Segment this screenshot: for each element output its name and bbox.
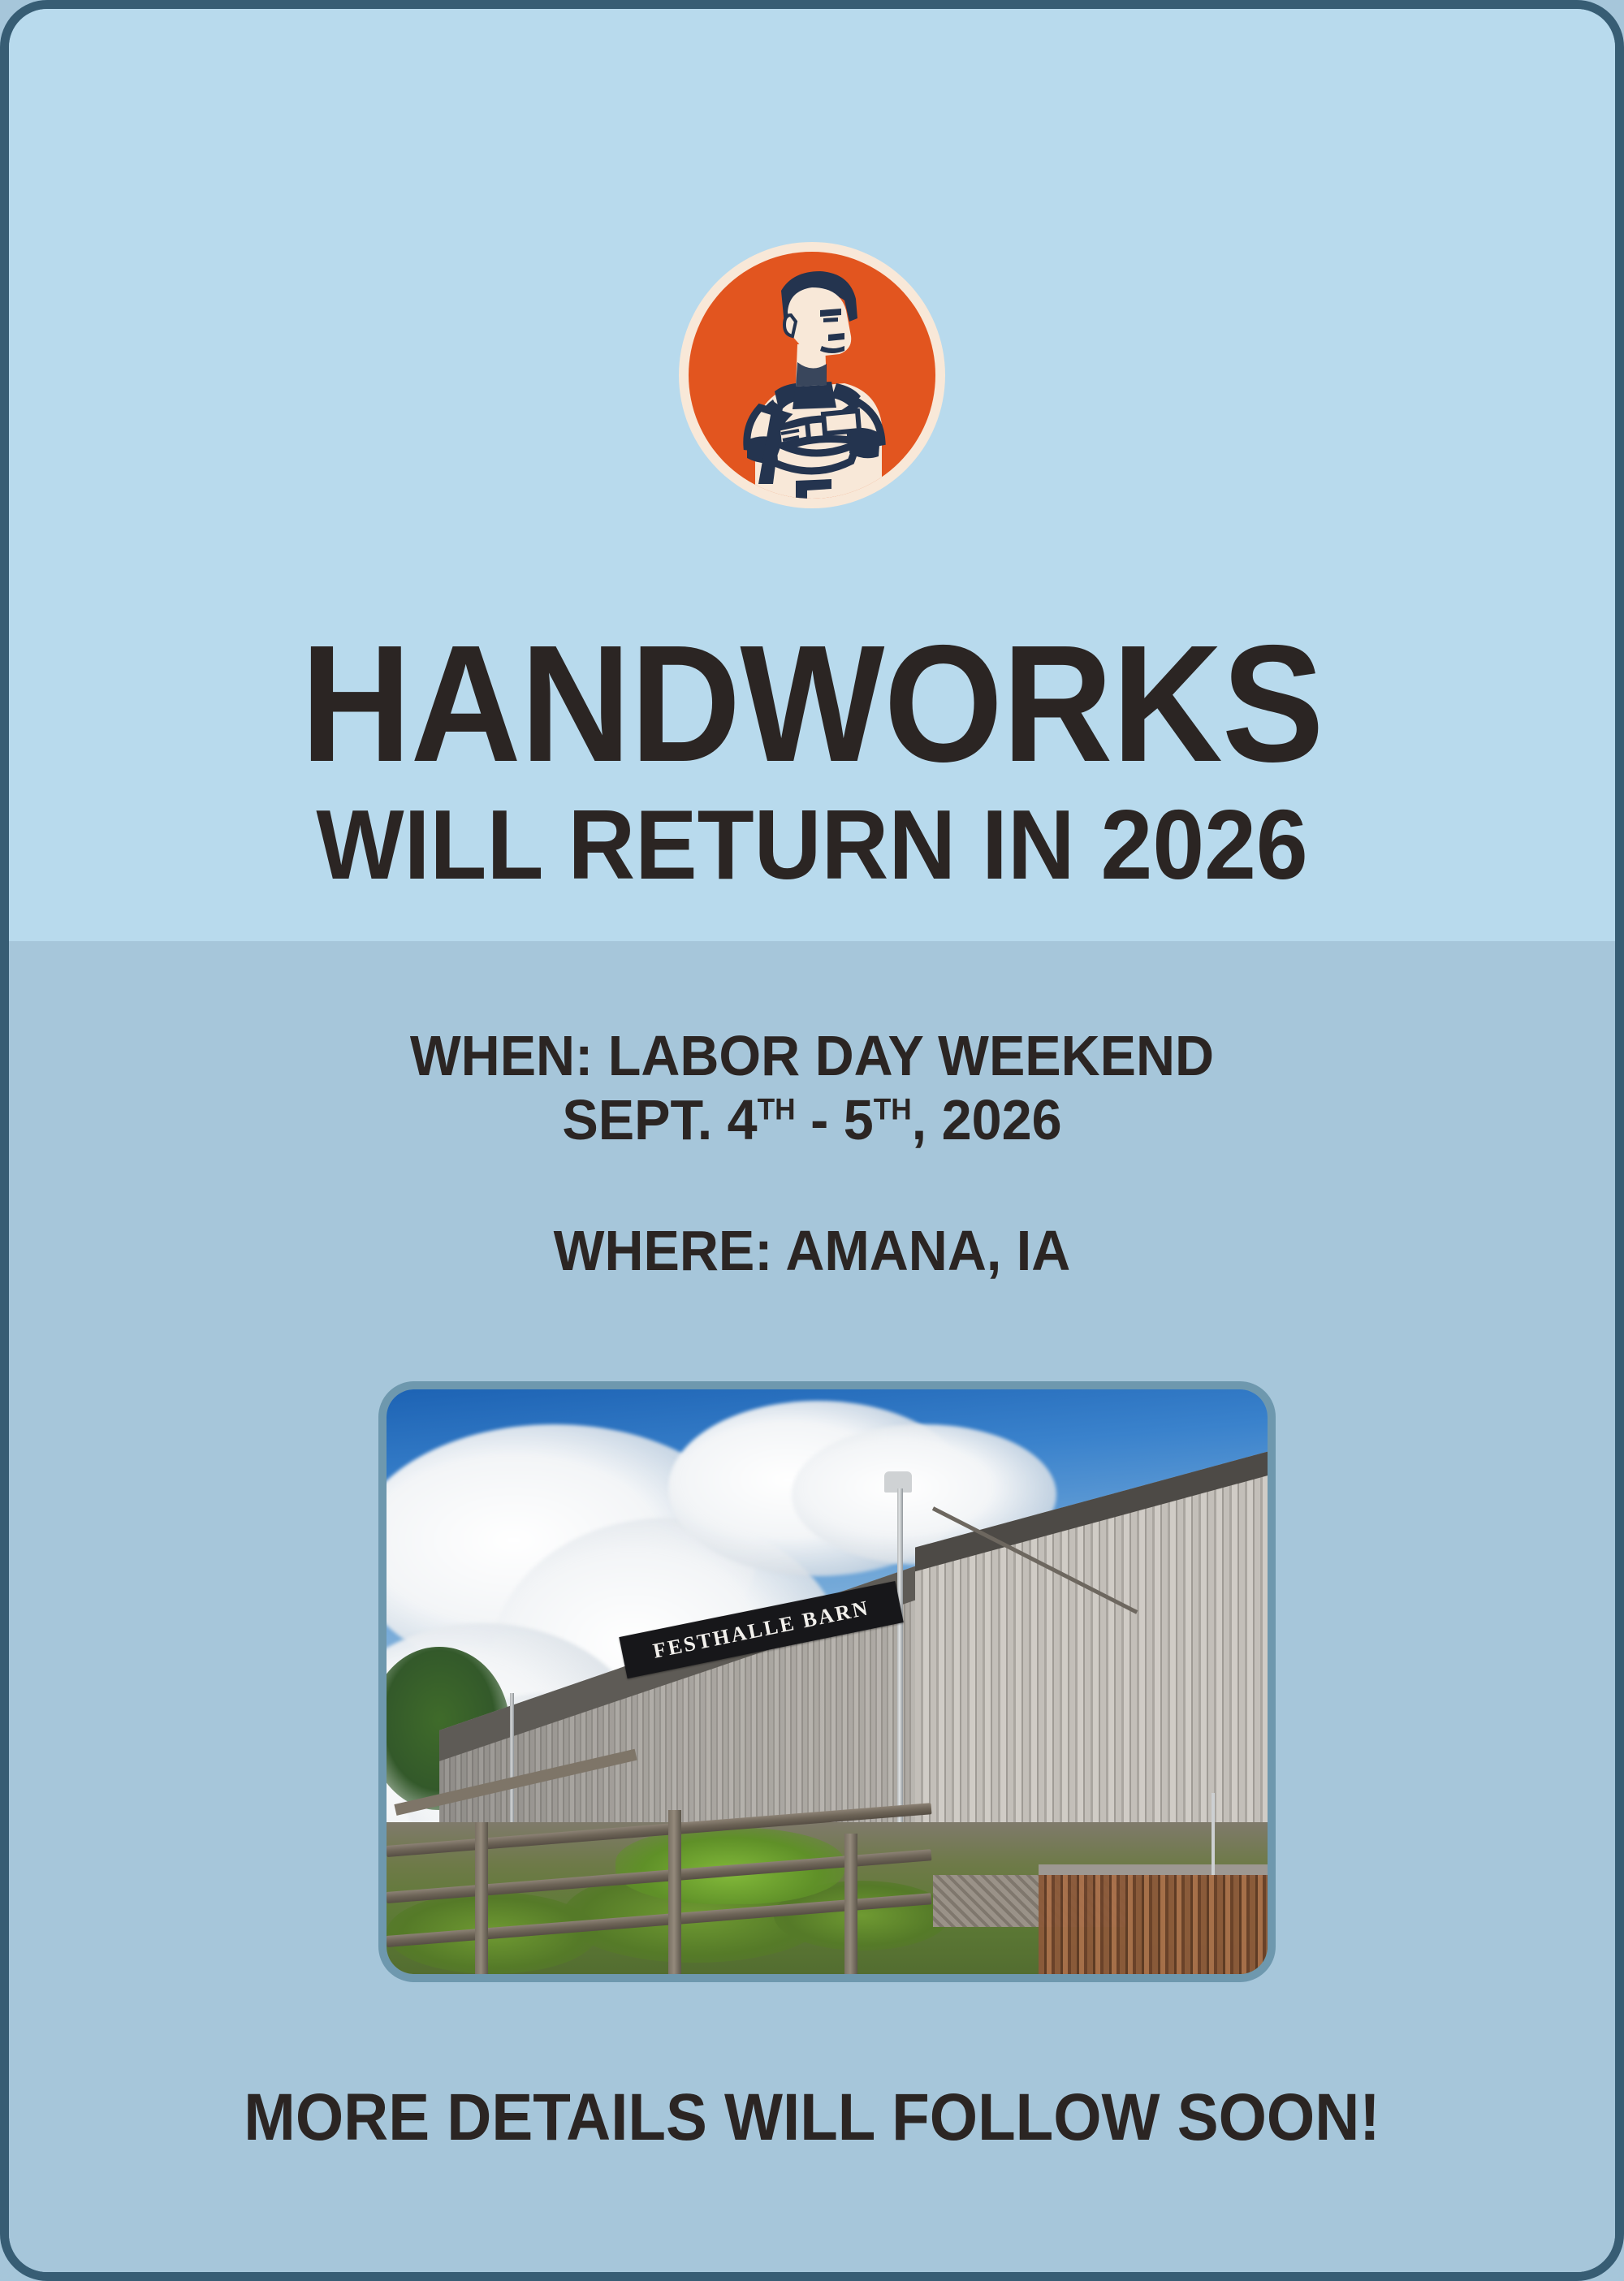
event-date-separator: - 5	[796, 1088, 874, 1151]
poster-card: HANDWORKS WILL RETURN IN 2026 WHEN: LABO…	[0, 0, 1624, 2281]
page-title: HANDWORKS	[73, 628, 1551, 781]
event-date-prefix: SEPT. 4	[562, 1088, 757, 1151]
event-date-line: SEPT. 4TH - 5TH, 2026	[49, 1088, 1574, 1152]
photo-inner: FESTHALLE BARN	[387, 1389, 1268, 1974]
fence-post	[668, 1810, 681, 1974]
event-where-line: WHERE: AMANA, IA	[49, 1219, 1574, 1283]
event-date-year: , 2026	[912, 1088, 1062, 1151]
headline-block: HANDWORKS WILL RETURN IN 2026	[9, 628, 1615, 897]
page-subtitle: WILL RETURN IN 2026	[57, 793, 1566, 897]
firewood-stack	[1039, 1875, 1268, 1974]
festhalle-barn-photo: FESTHALLE BARN	[378, 1381, 1276, 1982]
event-date-ordinal-second: TH	[874, 1092, 912, 1126]
footer-block: MORE DETAILS WILL FOLLOW SOON!	[9, 2081, 1615, 2154]
event-date-ordinal-first: TH	[758, 1092, 796, 1126]
fence-post	[844, 1834, 857, 1974]
details-spacer	[9, 1152, 1615, 1219]
fence-post	[475, 1822, 488, 1974]
utility-post	[1212, 1793, 1215, 1875]
event-details-block: WHEN: LABOR DAY WEEKEND SEPT. 4TH - 5TH,…	[9, 1024, 1615, 1283]
footer-message: MORE DETAILS WILL FOLLOW SOON!	[65, 2081, 1559, 2154]
event-when-line: WHEN: LABOR DAY WEEKEND	[49, 1024, 1574, 1088]
handworks-logo-icon	[677, 240, 947, 510]
